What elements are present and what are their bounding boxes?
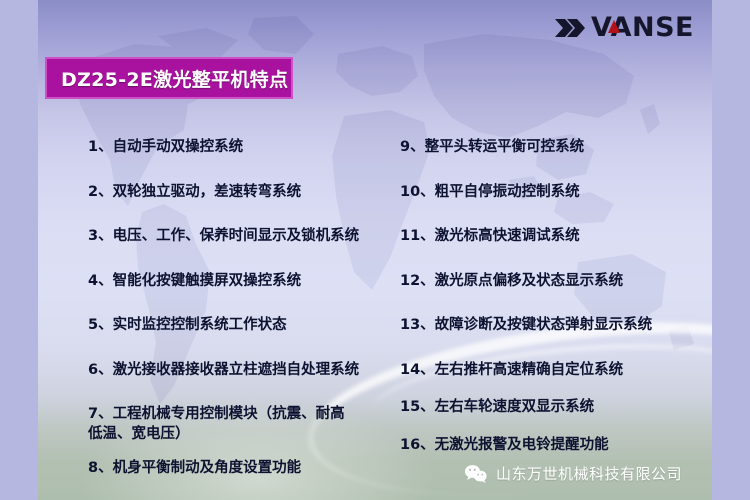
- feature-item: 4、智能化按键触摸屏双操控系统: [88, 272, 388, 292]
- feature-item: 10、粗平自停振动控制系统: [400, 183, 700, 203]
- feature-item: 12、激光原点偏移及状态显示系统: [400, 272, 700, 292]
- feature-item: 1、自动手动双操控系统: [88, 138, 388, 158]
- feature-item: 16、无激光报警及电铃提醒功能: [400, 436, 700, 456]
- feature-item: 9、整平头转运平衡可控系统: [400, 138, 700, 158]
- wechat-watermark: 山东万世机械科技有限公司: [464, 463, 682, 484]
- brand-logo: VANSE: [554, 14, 694, 41]
- feature-item: 15、左右车轮速度双显示系统: [400, 398, 700, 418]
- page-title: DZ25-2E激光整平机特点: [47, 65, 288, 92]
- feature-item: 5、实时监控控制系统工作状态: [88, 316, 388, 336]
- feature-item: 11、激光标高快速调试系统: [400, 227, 700, 247]
- feature-item: 7、工程机械专用控制模块（抗震、耐高低温、宽电压）: [88, 405, 350, 444]
- triangle-accent-icon: [608, 20, 620, 33]
- feature-item: 3、电压、工作、保养时间显示及锁机系统: [88, 227, 388, 247]
- slide-canvas: 1、自动手动双操控系统 2、双轮独立驱动，差速转弯系统 3、电压、工作、保养时间…: [0, 0, 750, 500]
- watermark-label: 山东万世机械科技有限公司: [496, 463, 682, 484]
- double-chevron-icon: [554, 16, 588, 40]
- feature-column-left: 1、自动手动双操控系统 2、双轮独立驱动，差速转弯系统 3、电压、工作、保养时间…: [88, 138, 388, 500]
- brand-wordmark: VANSE: [591, 14, 694, 41]
- brand-wordmark-text: VANSE: [591, 12, 694, 43]
- wechat-icon: [464, 464, 488, 484]
- feature-item: 6、激光接收器接收器立柱遮挡自处理系统: [88, 361, 388, 381]
- feature-item: 13、故障诊断及按键状态弹射显示系统: [400, 316, 700, 336]
- feature-item: 2、双轮独立驱动，差速转弯系统: [88, 183, 388, 203]
- title-banner: DZ25-2E激光整平机特点: [45, 57, 293, 99]
- feature-item: 8、机身平衡制动及角度设置功能: [88, 459, 388, 479]
- feature-column-right: 9、整平头转运平衡可控系统 10、粗平自停振动控制系统 11、激光标高快速调试系…: [400, 138, 700, 474]
- left-rail: [0, 0, 38, 500]
- feature-item: 14、左右推杆高速精确自定位系统: [400, 361, 700, 381]
- right-rail: [712, 0, 750, 500]
